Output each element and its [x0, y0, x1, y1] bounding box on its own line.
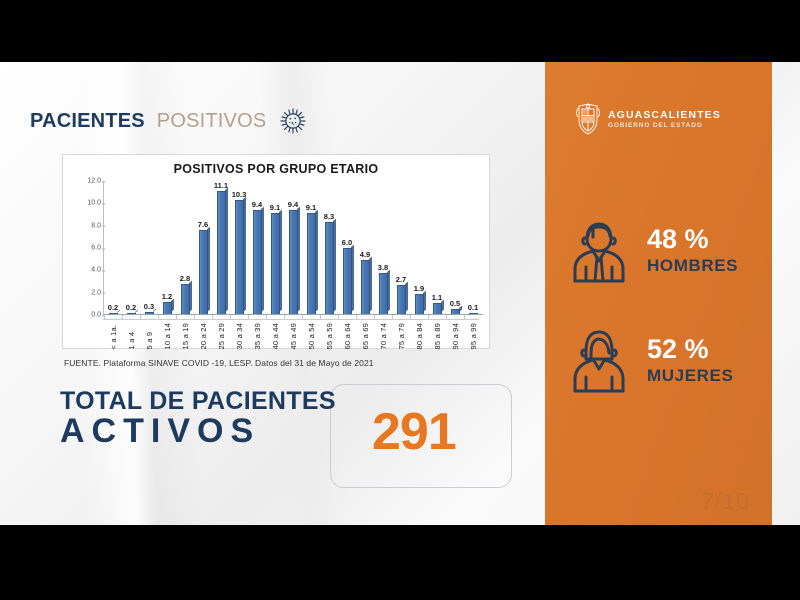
x-tick-label: 5 a 9	[145, 323, 154, 349]
bar-group: 10.3	[230, 181, 248, 315]
woman-icon	[567, 327, 631, 395]
y-tick-label: 12.0	[87, 178, 101, 185]
bar-group: 9.1	[266, 181, 284, 315]
y-tick-label: 6.0	[91, 245, 101, 252]
x-label-cell: < a 1a.	[104, 323, 122, 349]
x-tick-label: < a 1a.	[109, 323, 118, 349]
x-label-cell: 1 a 4	[122, 323, 140, 349]
x-tick	[446, 315, 464, 319]
header-title-bold: PACIENTES	[30, 110, 145, 133]
bar-group: 9.4	[248, 181, 266, 315]
x-tick	[266, 315, 284, 319]
bar-value-label: 0.3	[144, 302, 154, 311]
bar-group: 0.2	[104, 181, 122, 315]
x-tick	[194, 315, 212, 319]
bar-value-label: 9.1	[270, 203, 280, 212]
bar: 11.1	[217, 191, 226, 315]
x-tick-label: 10 a 14	[163, 323, 172, 349]
x-tick	[158, 315, 176, 319]
chart-plot-area: 0.02.04.06.08.010.012.0 0.20.20.31.22.87…	[63, 181, 491, 350]
bar-value-label: 10.3	[232, 190, 247, 199]
y-tick-label: 8.0	[91, 222, 101, 229]
government-logo: AGUASCALIENTES GOBIERNO DEL ESTADO	[575, 102, 721, 136]
bar: 7.6	[199, 230, 208, 315]
bar-value-label: 1.2	[162, 292, 172, 301]
x-axis-line-depth	[103, 319, 479, 320]
logo-subtitle: GOBIERNO DEL ESTADO	[608, 122, 721, 129]
x-label-cell: 85 a 89	[428, 323, 446, 349]
bar-value-label: 4.9	[360, 250, 370, 259]
bar-group: 9.4	[284, 181, 302, 315]
x-tick-label: 25 a 29	[217, 323, 226, 349]
bar: 9.1	[271, 213, 280, 315]
bar-value-label: 2.8	[180, 274, 190, 283]
bar-group: 11.1	[212, 181, 230, 315]
x-label-cell: 20 a 24	[194, 323, 212, 349]
y-tick-label: 0.0	[91, 312, 101, 319]
x-tick-label: 35 a 39	[253, 323, 262, 349]
bar-value-label: 3.8	[378, 263, 388, 272]
page-number: 7/10	[701, 488, 750, 515]
x-label-cell: 45 a 49	[284, 323, 302, 349]
logo-title: AGUASCALIENTES	[608, 109, 721, 121]
bar-series: 0.20.20.31.22.87.611.110.39.49.19.49.18.…	[104, 181, 482, 315]
x-tick-label: 95 a 99	[469, 323, 478, 349]
x-tick	[140, 315, 158, 319]
chart-card: POSITIVOS POR GRUPO ETARIO 0.02.04.06.08…	[62, 154, 490, 349]
bar-value-label: 0.1	[468, 303, 478, 312]
x-label-cell: 90 a 94	[446, 323, 464, 349]
hombres-label: HOMBRES	[647, 256, 738, 276]
bar-group: 2.7	[392, 181, 410, 315]
bar: 2.8	[181, 284, 190, 315]
bar-group: 9.1	[302, 181, 320, 315]
stat-text-mujeres: 52 % MUJERES	[647, 336, 733, 386]
x-label-cell: 55 a 59	[320, 323, 338, 349]
x-tick	[230, 315, 248, 319]
x-label-cell: 30 a 34	[230, 323, 248, 349]
x-tick	[212, 315, 230, 319]
x-tick	[392, 315, 410, 319]
x-tick	[410, 315, 428, 319]
header-title-light: POSITIVOS	[157, 110, 267, 133]
x-tick	[104, 315, 122, 319]
logo-text: AGUASCALIENTES GOBIERNO DEL ESTADO	[608, 109, 721, 128]
chart-source-note: FUENTE. Plataforma SINAVE COVID -19, LES…	[64, 358, 374, 368]
bar: 2.7	[397, 285, 406, 315]
x-tick	[464, 315, 482, 319]
bar-value-label: 9.4	[288, 200, 298, 209]
x-tick-label: 40 a 44	[271, 323, 280, 349]
slide-viewer: PACIENTES POSITIVOS	[0, 0, 800, 600]
x-label-cell: 10 a 14	[158, 323, 176, 349]
x-label-cell: 15 a 19	[176, 323, 194, 349]
bar-value-label: 1.9	[414, 284, 424, 293]
x-tick-label: 55 a 59	[325, 323, 334, 349]
bar: 9.4	[289, 210, 298, 315]
y-tick-label: 2.0	[91, 289, 101, 296]
bar-group: 0.5	[446, 181, 464, 315]
bar-value-label: 0.2	[108, 303, 118, 312]
x-label-cell: 95 a 99	[464, 323, 482, 349]
bar: 10.3	[235, 200, 244, 315]
bar-group: 1.9	[410, 181, 428, 315]
bar: 8.3	[325, 222, 334, 315]
slide-canvas: PACIENTES POSITIVOS	[0, 62, 800, 525]
x-tick-label: 90 a 94	[451, 323, 460, 349]
x-label-cell: 40 a 44	[266, 323, 284, 349]
bar: 9.1	[307, 213, 316, 315]
y-tick-label: 4.0	[91, 267, 101, 274]
bar-group: 6.0	[338, 181, 356, 315]
x-tick-label: 80 a 84	[415, 323, 424, 349]
x-tick-label: 60 a 64	[343, 323, 352, 349]
bar-value-label: 9.4	[252, 200, 262, 209]
x-tick-label: 85 a 89	[433, 323, 442, 349]
x-tick-label: 50 a 54	[307, 323, 316, 349]
x-axis-labels: < a 1a.1 a 45 a 910 a 1415 a 1920 a 2425…	[104, 323, 482, 349]
x-tick-label: 30 a 34	[235, 323, 244, 349]
x-label-cell: 70 a 74	[374, 323, 392, 349]
x-label-cell: 80 a 84	[410, 323, 428, 349]
x-label-cell: 5 a 9	[140, 323, 158, 349]
total-label-line2: ACTIVOS	[60, 414, 336, 450]
x-tick	[302, 315, 320, 319]
x-tick-label: 65 a 69	[361, 323, 370, 349]
x-tick	[428, 315, 446, 319]
bar-value-label: 7.6	[198, 220, 208, 229]
hombres-percent: 48 %	[647, 226, 738, 253]
bar: 3.8	[379, 273, 388, 315]
bar-group: 4.9	[356, 181, 374, 315]
bar-value-label: 11.1	[214, 181, 228, 190]
bar-value-label: 9.1	[306, 203, 316, 212]
bar-value-label: 2.7	[396, 275, 406, 284]
bar: 1.2	[163, 302, 172, 315]
bar-value-label: 8.3	[324, 212, 334, 221]
bar-value-label: 0.2	[126, 303, 136, 312]
bar: 1.9	[415, 294, 424, 315]
x-tick	[374, 315, 392, 319]
bar-group: 3.8	[374, 181, 392, 315]
bar-group: 0.3	[140, 181, 158, 315]
bar-value-label: 0.5	[450, 299, 460, 308]
bar: 6.0	[343, 248, 352, 315]
bar-group: 0.2	[122, 181, 140, 315]
x-tick	[356, 315, 374, 319]
x-tick	[338, 315, 356, 319]
man-icon	[567, 217, 631, 285]
bar: 4.9	[361, 260, 370, 315]
x-label-cell: 60 a 64	[338, 323, 356, 349]
y-tick-label: 10.0	[87, 200, 101, 207]
bar-group: 0.1	[464, 181, 482, 315]
stat-text-hombres: 48 % HOMBRES	[647, 226, 738, 276]
x-tick-label: 15 a 19	[181, 323, 190, 349]
virus-icon	[278, 106, 308, 136]
x-tick-label: 1 a 4	[127, 323, 136, 349]
x-tick	[284, 315, 302, 319]
bar-group: 8.3	[320, 181, 338, 315]
bar-group: 2.8	[176, 181, 194, 315]
bar-group: 1.2	[158, 181, 176, 315]
stat-row-hombres: 48 % HOMBRES	[567, 217, 738, 285]
bar-value-label: 1.1	[432, 293, 442, 302]
x-label-cell: 35 a 39	[248, 323, 266, 349]
bar-value-label: 6.0	[342, 238, 352, 247]
x-label-cell: 65 a 69	[356, 323, 374, 349]
x-tick-label: 75 a 79	[397, 323, 406, 349]
chart-title: POSITIVOS POR GRUPO ETARIO	[63, 155, 489, 176]
x-tick	[248, 315, 266, 319]
x-tick	[176, 315, 194, 319]
bar-group: 1.1	[428, 181, 446, 315]
right-orange-panel: AGUASCALIENTES GOBIERNO DEL ESTADO	[545, 62, 772, 525]
bar: 9.4	[253, 210, 262, 315]
state-crest-icon	[575, 102, 601, 136]
total-active-value: 291	[372, 402, 456, 462]
x-tick	[320, 315, 338, 319]
x-label-cell: 75 a 79	[392, 323, 410, 349]
x-tick-label: 45 a 49	[289, 323, 298, 349]
bar-group: 7.6	[194, 181, 212, 315]
total-label-line1: TOTAL DE PACIENTES	[60, 388, 336, 414]
x-tick-label: 20 a 24	[199, 323, 208, 349]
x-tick	[122, 315, 140, 319]
y-axis: 0.02.04.06.08.010.012.0	[71, 181, 101, 315]
mujeres-percent: 52 %	[647, 336, 733, 363]
slide-header: PACIENTES POSITIVOS	[30, 106, 308, 136]
x-label-cell: 50 a 54	[302, 323, 320, 349]
total-label: TOTAL DE PACIENTES ACTIVOS	[60, 388, 336, 450]
x-tick-label: 70 a 74	[379, 323, 388, 349]
stat-row-mujeres: 52 % MUJERES	[567, 327, 733, 395]
x-label-cell: 25 a 29	[212, 323, 230, 349]
mujeres-label: MUJERES	[647, 366, 733, 386]
x-axis-ticks	[104, 315, 482, 319]
